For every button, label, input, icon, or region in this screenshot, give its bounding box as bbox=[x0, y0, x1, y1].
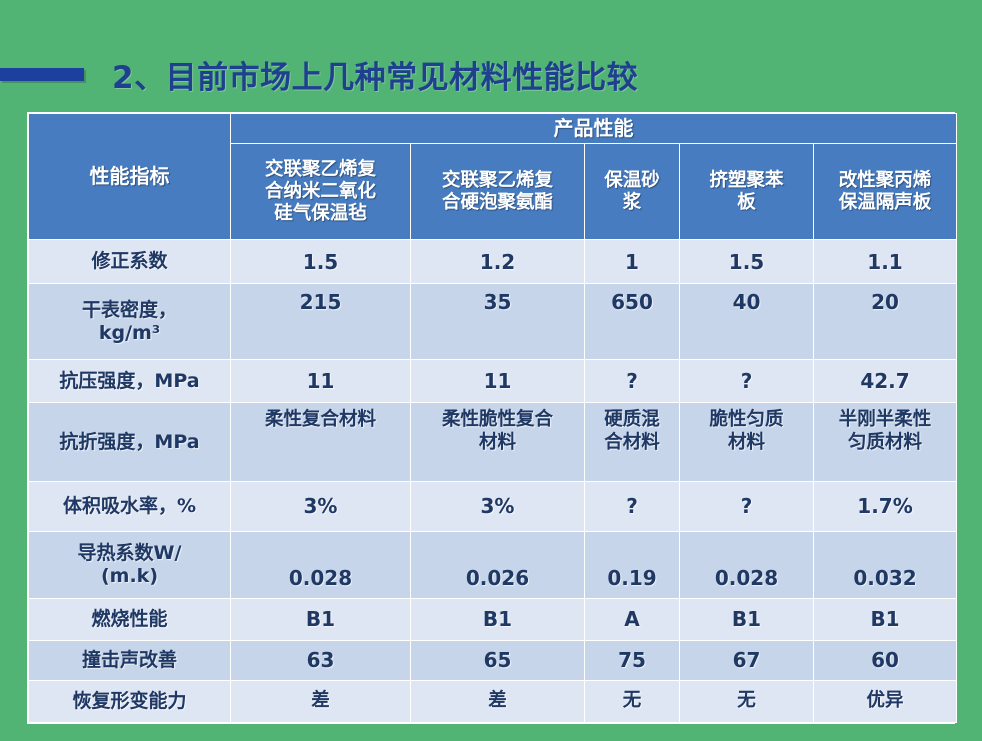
row-label-5-line-1: (m.k) bbox=[32, 565, 227, 588]
column-header-0-line-2: 硅气保温毡 bbox=[234, 203, 407, 225]
table-row: 恢复形变能力 差 差 无 无 优异 bbox=[29, 680, 957, 722]
title-accent-bar bbox=[0, 68, 84, 81]
cell-0-3: 1.5 bbox=[680, 240, 814, 284]
cell-7-4: 60 bbox=[814, 640, 957, 680]
cell-5-4: 0.032 bbox=[814, 531, 957, 598]
cell-3-2-line-0: 硬质混 bbox=[588, 409, 676, 431]
cell-8-4: 优异 bbox=[814, 680, 957, 722]
cell-8-1: 差 bbox=[411, 680, 585, 722]
material-comparison-table: 性能指标 产品性能 交联聚乙烯复 合纳米二氧化 硅气保温毡 交联聚乙烯复 合硬泡… bbox=[27, 112, 955, 724]
cell-5-0: 0.028 bbox=[231, 531, 411, 598]
column-header-3: 挤塑聚苯 板 bbox=[680, 144, 814, 240]
cell-6-1: B1 bbox=[411, 598, 585, 640]
cell-4-0: 3% bbox=[231, 481, 411, 531]
cell-6-2: A bbox=[585, 598, 680, 640]
column-header-1-line-1: 合硬泡聚氨酯 bbox=[414, 192, 581, 214]
cell-5-3: 0.028 bbox=[680, 531, 814, 598]
slide-canvas: 2、目前市场上几种常见材料性能比较 性能指标 产品性能 交联聚乙烯复 合纳米二氧… bbox=[0, 0, 982, 741]
cell-3-3-line-1: 材料 bbox=[683, 432, 810, 454]
row-label-1-line-0: 干表密度， bbox=[32, 299, 227, 322]
cell-1-0: 215 bbox=[231, 284, 411, 360]
cell-0-2: 1 bbox=[585, 240, 680, 284]
column-header-3-line-1: 板 bbox=[683, 192, 810, 214]
cell-8-0: 差 bbox=[231, 680, 411, 722]
cell-2-4: 42.7 bbox=[814, 360, 957, 403]
header-group-label: 产品性能 bbox=[231, 114, 957, 144]
cell-2-0: 11 bbox=[231, 360, 411, 403]
cell-3-1-line-0: 柔性脆性复合 bbox=[414, 409, 581, 431]
column-header-2-line-1: 浆 bbox=[588, 192, 676, 214]
column-header-0-line-1: 合纳米二氧化 bbox=[234, 181, 407, 203]
cell-3-4: 半刚半柔性 匀质材料 bbox=[814, 403, 957, 481]
row-label-0: 修正系数 bbox=[29, 240, 231, 284]
cell-3-4-line-0: 半刚半柔性 bbox=[817, 409, 953, 431]
cell-4-3: ? bbox=[680, 481, 814, 531]
table-row: 体积吸水率，% 3% 3% ? ? 1.7% bbox=[29, 481, 957, 531]
cell-2-2: ? bbox=[585, 360, 680, 403]
cell-0-0: 1.5 bbox=[231, 240, 411, 284]
cell-7-2: 75 bbox=[585, 640, 680, 680]
cell-6-4: B1 bbox=[814, 598, 957, 640]
row-label-1: 干表密度， kg/m³ bbox=[29, 284, 231, 360]
column-header-1-line-0: 交联聚乙烯复 bbox=[414, 170, 581, 192]
header-metric-label: 性能指标 bbox=[29, 114, 231, 240]
cell-2-3: ? bbox=[680, 360, 814, 403]
row-label-3: 抗折强度，MPa bbox=[29, 403, 231, 481]
column-header-0: 交联聚乙烯复 合纳米二氧化 硅气保温毡 bbox=[231, 144, 411, 240]
column-header-0-line-0: 交联聚乙烯复 bbox=[234, 159, 407, 181]
row-label-7: 撞击声改善 bbox=[29, 640, 231, 680]
cell-7-3: 67 bbox=[680, 640, 814, 680]
row-label-5: 导热系数W/ (m.k) bbox=[29, 531, 231, 598]
cell-3-2: 硬质混 合材料 bbox=[585, 403, 680, 481]
column-header-4-line-1: 保温隔声板 bbox=[817, 192, 953, 214]
table-row: 燃烧性能 B1 B1 A B1 B1 bbox=[29, 598, 957, 640]
table-header-group-row: 性能指标 产品性能 bbox=[29, 114, 957, 144]
table-row: 修正系数 1.5 1.2 1 1.5 1.1 bbox=[29, 240, 957, 284]
page-title: 2、目前市场上几种常见材料性能比较 bbox=[112, 52, 638, 97]
cell-6-0: B1 bbox=[231, 598, 411, 640]
cell-4-2: ? bbox=[585, 481, 680, 531]
cell-3-0: 柔性复合材料 bbox=[231, 403, 411, 481]
cell-3-1-line-1: 材料 bbox=[414, 432, 581, 454]
row-label-4: 体积吸水率，% bbox=[29, 481, 231, 531]
cell-6-3: B1 bbox=[680, 598, 814, 640]
cell-2-1: 11 bbox=[411, 360, 585, 403]
cell-4-4: 1.7% bbox=[814, 481, 957, 531]
table-row: 干表密度， kg/m³ 215 35 650 40 20 bbox=[29, 284, 957, 360]
column-header-2-line-0: 保温砂 bbox=[588, 170, 676, 192]
cell-3-2-line-1: 合材料 bbox=[588, 432, 676, 454]
table-row: 抗折强度，MPa 柔性复合材料 柔性脆性复合 材料 硬质混 合材料 脆性匀质 bbox=[29, 403, 957, 481]
row-label-6: 燃烧性能 bbox=[29, 598, 231, 640]
cell-4-1: 3% bbox=[411, 481, 585, 531]
column-header-3-line-0: 挤塑聚苯 bbox=[683, 170, 810, 192]
table-row: 撞击声改善 63 65 75 67 60 bbox=[29, 640, 957, 680]
cell-3-3: 脆性匀质 材料 bbox=[680, 403, 814, 481]
cell-0-1: 1.2 bbox=[411, 240, 585, 284]
column-header-4-line-0: 改性聚丙烯 bbox=[817, 170, 953, 192]
row-label-8: 恢复形变能力 bbox=[29, 680, 231, 722]
table-row: 导热系数W/ (m.k) 0.028 0.026 0.19 0.028 0.03… bbox=[29, 531, 957, 598]
cell-1-3: 40 bbox=[680, 284, 814, 360]
cell-1-2: 650 bbox=[585, 284, 680, 360]
column-header-4: 改性聚丙烯 保温隔声板 bbox=[814, 144, 957, 240]
slide-title-row: 2、目前市场上几种常见材料性能比较 bbox=[0, 48, 982, 100]
cell-7-0: 63 bbox=[231, 640, 411, 680]
cell-3-0-line-0: 柔性复合材料 bbox=[234, 409, 407, 431]
cell-8-3: 无 bbox=[680, 680, 814, 722]
cell-3-3-line-0: 脆性匀质 bbox=[683, 409, 810, 431]
row-label-1-line-1: kg/m³ bbox=[32, 322, 227, 345]
cell-3-4-line-1: 匀质材料 bbox=[817, 432, 953, 454]
cell-3-1: 柔性脆性复合 材料 bbox=[411, 403, 585, 481]
row-label-2: 抗压强度，MPa bbox=[29, 360, 231, 403]
cell-8-2: 无 bbox=[585, 680, 680, 722]
cell-5-2: 0.19 bbox=[585, 531, 680, 598]
cell-0-4: 1.1 bbox=[814, 240, 957, 284]
table-row: 抗压强度，MPa 11 11 ? ? 42.7 bbox=[29, 360, 957, 403]
row-label-5-line-0: 导热系数W/ bbox=[32, 542, 227, 565]
column-header-2: 保温砂 浆 bbox=[585, 144, 680, 240]
cell-5-1: 0.026 bbox=[411, 531, 585, 598]
cell-7-1: 65 bbox=[411, 640, 585, 680]
column-header-1: 交联聚乙烯复 合硬泡聚氨酯 bbox=[411, 144, 585, 240]
cell-1-4: 20 bbox=[814, 284, 957, 360]
cell-1-1: 35 bbox=[411, 284, 585, 360]
